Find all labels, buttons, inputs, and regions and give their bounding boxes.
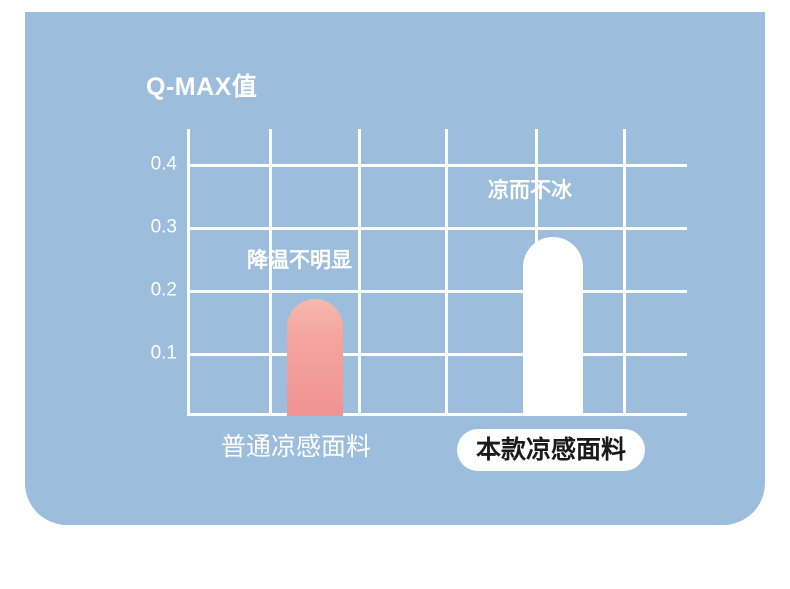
gridline-vertical-5: [623, 129, 626, 416]
x-label-ordinary-cooling-fabric: 普通凉感面料: [221, 435, 371, 460]
y-axis-line: [187, 129, 190, 416]
x-label-this-cooling-fabric: 本款凉感面料: [476, 438, 626, 463]
x-label-pill-this-cooling-fabric: 本款凉感面料: [457, 429, 645, 471]
annotation-this-fabric: 凉而不冰: [488, 180, 572, 201]
chart-card: Q-MAX值 0.4 0.3 0.2 0.1: [25, 12, 765, 525]
bar-this-cooling-fabric: [523, 237, 583, 416]
annotation-ordinary-fabric: 降温不明显: [247, 250, 352, 271]
x-axis-line: [187, 413, 687, 416]
gridline-horizontal-0-2: [187, 290, 687, 293]
y-tick-label-0-4: 0.4: [151, 155, 177, 174]
gridline-horizontal-0-4: [187, 164, 687, 167]
gridline-horizontal-0-1: [187, 353, 687, 356]
bar-ordinary-cooling-fabric: [287, 299, 343, 416]
y-tick-label-0-2: 0.2: [151, 281, 177, 300]
plot-area: [187, 129, 687, 416]
gridline-vertical-1: [269, 129, 272, 416]
y-axis-tick-labels: 0.4 0.3 0.2 0.1: [135, 129, 177, 416]
y-tick-label-0-1: 0.1: [151, 344, 177, 363]
screenshot-root: Q-MAX值 0.4 0.3 0.2 0.1: [0, 0, 790, 589]
chart-title: Q-MAX值: [146, 75, 257, 100]
gridline-vertical-2: [358, 129, 361, 416]
y-tick-label-0-3: 0.3: [151, 218, 177, 237]
gridline-horizontal-0-3: [187, 227, 687, 230]
gridline-vertical-3: [445, 129, 448, 416]
